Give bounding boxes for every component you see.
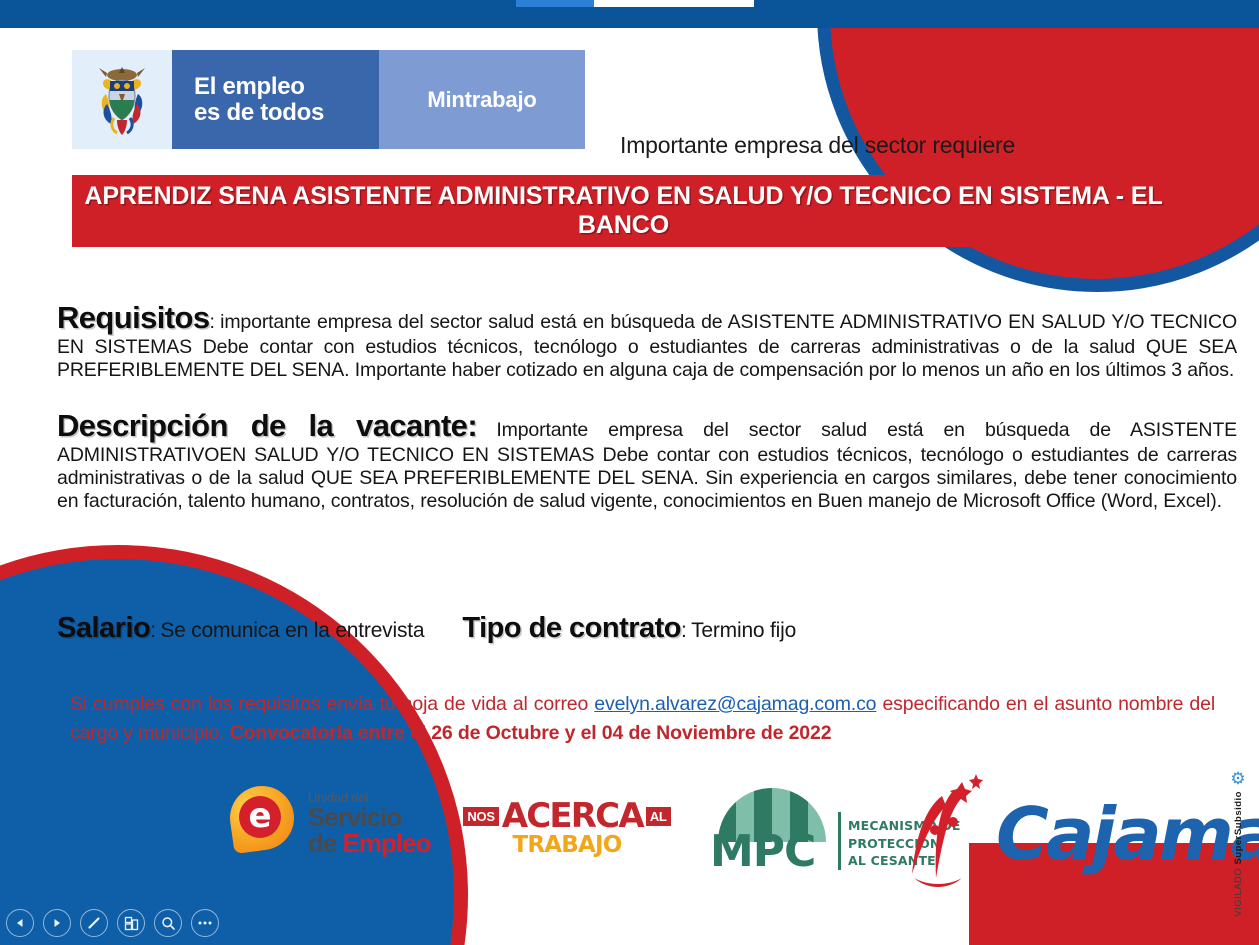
nos-acerca-al-trabajo-logo: NOS ACERCA AL TRABAJO <box>462 796 672 858</box>
requisitos-block: Requisitos: importante empresa del secto… <box>57 300 1237 382</box>
page-title: APRENDIZ SENA ASISTENTE ADMINISTRATIVO E… <box>80 182 1167 241</box>
acerca-main: ACERCA <box>502 796 643 836</box>
cta-deadline: Convocatoria entre el 26 de Octubre y el… <box>230 722 832 744</box>
more-options-button[interactable] <box>191 909 219 937</box>
cajamag-logo: Cajamag <box>896 774 1259 894</box>
footer-logos: e Unidad del Servicio de Empleo NOS ACER… <box>0 778 1259 903</box>
presentation-top-bar <box>0 0 1259 28</box>
pay-row: Salario: Se comunica en la entrevista Ti… <box>57 612 1057 645</box>
next-slide-button[interactable] <box>43 909 71 937</box>
pen-tool-button[interactable] <box>80 909 108 937</box>
contrato-separator: : <box>681 619 687 642</box>
slide-overview-button[interactable] <box>117 909 145 937</box>
contrato-label: Tipo de contrato <box>462 612 681 644</box>
acerca-al: AL <box>646 807 671 826</box>
tagline: Importante empresa del sector requiere <box>620 132 1015 159</box>
mpc-divider <box>838 812 841 870</box>
mpc-acronym: MPC <box>710 830 815 874</box>
vigilado-prefix: VIGILADO <box>1233 865 1244 917</box>
vigilado-text: VIGILADO SuperSubsidio <box>1233 791 1244 917</box>
e-speech-bubble-icon: e <box>228 784 300 862</box>
descripcion-label: Descripción de la vacante: <box>57 408 477 443</box>
salario-group: Salario: Se comunica en la entrevista <box>57 612 424 645</box>
cajamag-wordmark: Cajamag <box>996 798 1259 870</box>
salario-value: Se comunica en la entrevista <box>160 619 424 642</box>
use-line3-accent: Empleo <box>343 828 431 858</box>
use-line3-prefix: de <box>308 828 343 858</box>
cta-text-before: Si cumples con los requisitos envía tu h… <box>70 693 594 715</box>
gov-slogan: El empleo es de todos <box>172 50 379 149</box>
presentation-toolbar <box>6 909 219 937</box>
use-line3: de Empleo <box>308 830 431 856</box>
gov-slogan-line1: El empleo <box>194 74 379 100</box>
requisitos-text: importante empresa del sector salud está… <box>57 311 1237 381</box>
salario-label: Salario <box>57 612 150 644</box>
gov-slogan-line2: es de todos <box>194 100 379 126</box>
application-instructions: Si cumples con los requisitos envía tu h… <box>70 690 1215 749</box>
requisitos-separator: : <box>209 311 214 333</box>
vigilado-supersubsidio: ⚙ VIGILADO SuperSubsidio <box>1223 770 1253 910</box>
job-details: Requisitos: importante empresa del secto… <box>57 300 1237 531</box>
cajamag-star-figures-icon <box>896 774 1004 894</box>
zoom-button[interactable] <box>154 909 182 937</box>
contact-email-link[interactable]: evelyn.alvarez@cajamag.com.co <box>594 693 876 715</box>
job-title-banner: APRENDIZ SENA ASISTENTE ADMINISTRATIVO E… <box>72 175 1175 247</box>
contrato-group: Tipo de contrato: Termino fijo <box>462 612 796 645</box>
acerca-nos: NOS <box>463 807 498 826</box>
contrato-value: Termino fijo <box>691 619 796 642</box>
vigilado-brand: SuperSubsidio <box>1233 791 1244 865</box>
requisitos-label: Requisitos <box>57 300 209 335</box>
supersubsidio-shield-icon: ⚙ <box>1230 770 1245 787</box>
colombia-coat-of-arms-icon <box>72 50 172 149</box>
unidad-servicio-empleo-logo: e Unidad del Servicio de Empleo <box>228 784 431 862</box>
government-brand-bar: El empleo es de todos Mintrabajo <box>72 50 585 149</box>
use-line2: Servicio <box>308 804 431 830</box>
ministry-label: Mintrabajo <box>379 50 585 149</box>
presentation-slide: El empleo es de todos Mintrabajo Importa… <box>0 0 1259 945</box>
progress-thumb[interactable] <box>516 0 594 7</box>
previous-slide-button[interactable] <box>6 909 34 937</box>
salario-separator: : <box>150 619 156 642</box>
descripcion-block: Descripción de la vacante: Importante em… <box>57 408 1237 513</box>
